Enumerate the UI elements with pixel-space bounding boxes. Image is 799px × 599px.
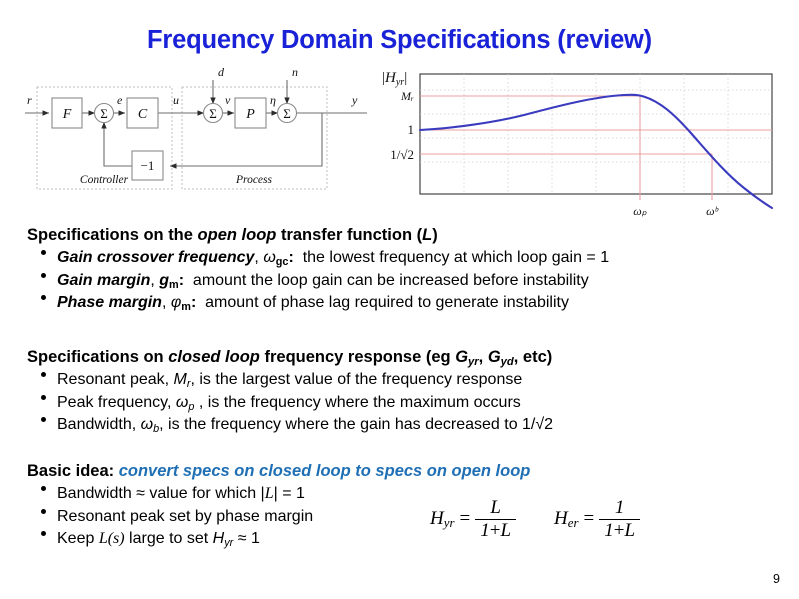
controller-group-label: Controller <box>80 174 129 186</box>
bullet-text-pre: Resonant peak, <box>57 371 174 388</box>
bullet-text: the lowest frequency at which loop gain … <box>303 249 609 266</box>
bullet-text-pre: Bandwidth ≈ value for which | <box>57 485 265 502</box>
heading-symbol-2: G <box>488 348 501 366</box>
frequency-response-chart: |Hyr| <box>372 62 782 227</box>
signal-label-r: r <box>27 93 32 107</box>
list-item: Phase margin, φm: amount of phase lag re… <box>27 292 777 315</box>
bullet-symbol: ω <box>141 416 153 433</box>
bullet-text-post: large to set <box>125 530 213 547</box>
equation-numerator: 1 <box>610 498 630 519</box>
bullet-text: amount the loop gain can be increased be… <box>193 272 589 289</box>
page-title: Frequency Domain Specifications (review) <box>0 26 799 55</box>
equation-Hyr: Hyr = L 1+L <box>430 498 516 541</box>
list-item: Gain crossover frequency, ωgc: the lowes… <box>27 247 777 270</box>
den-right: L <box>624 520 635 541</box>
bullet-dot-icon <box>41 509 46 514</box>
bullet-text-tail: ≈ 1 <box>233 530 260 547</box>
bullet-term: Phase margin <box>57 294 162 311</box>
heading-pre: Specifications on <box>27 348 168 366</box>
sum-symbol-1: Σ <box>100 106 108 121</box>
bullet-symbol: L <box>265 485 274 502</box>
signal-label-nu: ν <box>225 93 231 107</box>
bullet-symbol-sub: m <box>181 301 191 313</box>
equation-denominator: 1+L <box>475 519 516 541</box>
bullet-text-post: | = 1 <box>274 485 305 502</box>
heading-italic: closed loop <box>168 348 260 366</box>
block-label-F: F <box>62 107 72 122</box>
block-diagram: F C P −1 Σ Σ Σ r e u ν η y d n Controlle… <box>22 62 372 207</box>
bullet-symbol-sub: b <box>153 423 159 435</box>
den-left: 1 <box>480 520 490 541</box>
sum-symbol-2: Σ <box>209 106 217 121</box>
equation-lhs: Her <box>554 508 579 530</box>
bullet-dot-icon <box>41 250 46 255</box>
bullet-text-post: , is the frequency where the maximum occ… <box>194 394 520 411</box>
equation-numerator: L <box>485 498 506 519</box>
list-item: Peak frequency, ωp , is the frequency wh… <box>27 392 777 415</box>
section-closed-loop: Specifications on closed loop frequency … <box>27 348 777 437</box>
svg-text:|Hyr|: |Hyr| <box>382 70 407 88</box>
equation-denominator: 1+L <box>599 519 640 541</box>
bullet-symbol-sub: gc <box>276 256 289 268</box>
bullet-symbol: L(s) <box>99 530 125 547</box>
den-right: L <box>500 520 511 541</box>
heading-mid: transfer function ( <box>276 226 422 244</box>
section-open-loop: Specifications on the open loop transfer… <box>27 226 777 315</box>
equation-fraction: 1 1+L <box>599 498 640 541</box>
bullet-term: Gain margin <box>57 272 150 289</box>
section-basic-idea-heading: Basic idea: convert specs on closed loop… <box>27 462 777 481</box>
section-closed-loop-heading: Specifications on closed loop frequency … <box>27 348 777 367</box>
heading-symbol-1-sub: yr <box>468 356 479 368</box>
signal-label-u: u <box>173 93 179 107</box>
bullet-symbol-sub: m <box>169 279 179 291</box>
bullet-dot-icon <box>41 417 46 422</box>
heading-blue-italic: convert specs on closed loop to specs on… <box>119 462 531 480</box>
equation-equals: = <box>584 508 595 530</box>
equation-lhs-base: H <box>430 508 444 529</box>
equation-lhs-sub: er <box>568 515 579 530</box>
closed-loop-bullet-list: Resonant peak, Mr, is the largest value … <box>27 369 777 437</box>
heading-comma: , <box>479 348 488 366</box>
list-item: Gain margin, gm: amount the loop gain ca… <box>27 270 777 293</box>
heading-post: ) <box>432 226 438 244</box>
page-number: 9 <box>773 572 780 586</box>
chart-xtick-omega-p: ωₚ <box>633 204 647 218</box>
heading-symbol-2-sub: yd <box>501 356 514 368</box>
list-item: Resonant peak, Mr, is the largest value … <box>27 369 777 392</box>
signal-label-n: n <box>292 65 298 79</box>
equations-group: Hyr = L 1+L Her = 1 1+L <box>430 494 710 544</box>
process-group-label: Process <box>235 174 273 186</box>
bullet-symbol-2: H <box>213 530 225 547</box>
bullet-text: amount of phase lag required to generate… <box>205 294 569 311</box>
den-operator: + <box>614 520 625 541</box>
den-operator: + <box>490 520 501 541</box>
signal-label-d: d <box>218 65 225 79</box>
heading-pre: Specifications on the <box>27 226 198 244</box>
bullet-text-pre: Bandwidth, <box>57 416 141 433</box>
signal-label-y: y <box>351 93 358 107</box>
bullet-text-pre: Resonant peak set by phase margin <box>57 508 313 525</box>
bullet-symbol: φ <box>171 294 181 311</box>
equation-lhs-base: H <box>554 508 568 529</box>
chart-ytick-unity: 1 <box>408 122 415 137</box>
bullet-dot-icon <box>41 486 46 491</box>
heading-italic: open loop <box>198 226 277 244</box>
bullet-dot-icon <box>41 295 46 300</box>
bullet-symbol: M <box>174 371 187 388</box>
chart-ylabel: |Hyr| <box>382 70 407 88</box>
heading-italic2: L <box>422 226 432 244</box>
bullet-text-pre: Peak frequency, <box>57 394 176 411</box>
bullet-symbol-2-sub: yr <box>224 537 233 549</box>
signal-label-e: e <box>117 93 123 107</box>
bullet-term: Gain crossover frequency <box>57 249 254 266</box>
bullet-symbol-sub: r <box>187 378 191 390</box>
equation-Her: Her = 1 1+L <box>554 498 640 541</box>
heading-pre: Basic idea: <box>27 462 119 480</box>
heading-mid: frequency response (eg <box>260 348 455 366</box>
bullet-dot-icon <box>41 395 46 400</box>
sum-symbol-3: Σ <box>283 106 291 121</box>
bullet-text-pre: Keep <box>57 530 99 547</box>
chart-xtick-omega-b: ωᵇ <box>706 204 718 218</box>
equation-fraction: L 1+L <box>475 498 516 541</box>
block-label-C: C <box>138 107 148 122</box>
chart-ytick-minus3db: 1/√2 <box>390 147 414 162</box>
den-left: 1 <box>604 520 614 541</box>
equation-lhs: Hyr <box>430 508 455 530</box>
equation-lhs-sub: yr <box>444 515 455 530</box>
bullet-symbol: g <box>159 272 169 289</box>
open-loop-bullet-list: Gain crossover frequency, ωgc: the lowes… <box>27 247 777 315</box>
bullet-dot-icon <box>41 273 46 278</box>
signal-label-eta: η <box>270 93 276 107</box>
heading-post: , etc) <box>514 348 553 366</box>
bullet-text-post: , is the largest value of the frequency … <box>190 371 522 388</box>
bullet-dot-icon <box>41 372 46 377</box>
section-open-loop-heading: Specifications on the open loop transfer… <box>27 226 777 245</box>
chart-ytick-Mr: Mᵣ <box>400 89 414 103</box>
bullet-symbol: ω <box>176 394 188 411</box>
bullet-symbol-sub: p <box>188 401 194 413</box>
chart-ylabel-sub: yr <box>395 77 404 88</box>
bullet-symbol: ω <box>263 249 275 266</box>
figure-area: F C P −1 Σ Σ Σ r e u ν η y d n Controlle… <box>0 62 799 222</box>
heading-symbol-1: G <box>455 348 468 366</box>
list-item: Bandwidth, ωb, is the frequency where th… <box>27 414 777 437</box>
block-label-feedback-gain: −1 <box>141 158 155 173</box>
block-label-P: P <box>245 107 255 122</box>
bullet-text-post: , is the frequency where the gain has de… <box>159 416 553 433</box>
equation-equals: = <box>460 508 471 530</box>
bullet-dot-icon <box>41 531 46 536</box>
